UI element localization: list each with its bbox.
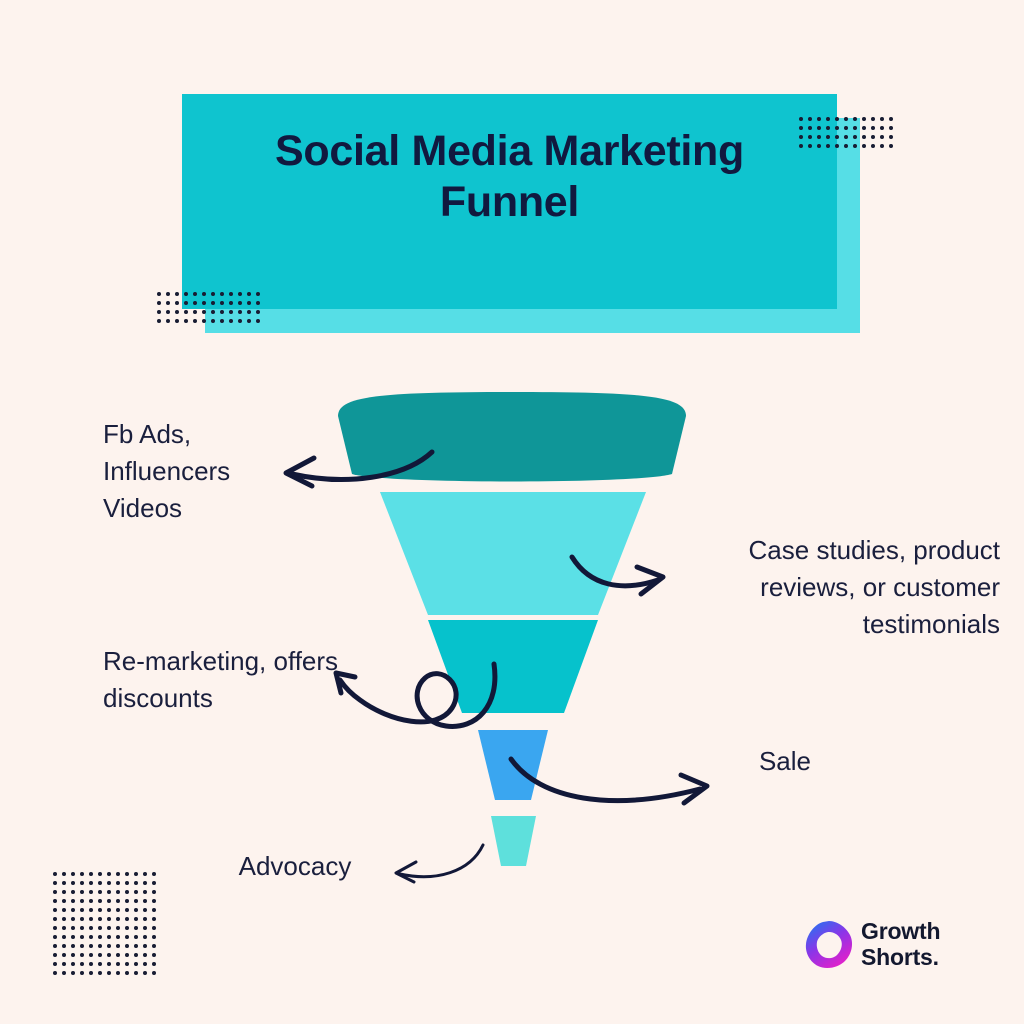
funnel-segment-5 — [491, 816, 536, 866]
dot-grid-mid-left — [157, 292, 265, 328]
funnel-label-sale: Sale — [700, 743, 870, 780]
growth-shorts-mark-icon — [803, 919, 855, 971]
brand-logo: Growth Shorts. — [803, 917, 963, 977]
funnel-segment-1 — [338, 392, 686, 482]
funnel-label-awareness: Fb Ads, Influencers Videos — [103, 416, 343, 527]
infographic-canvas: Social Media Marketing Funnel — [0, 0, 1024, 1024]
dot-grid-bottom-left — [53, 872, 161, 980]
brand-logo-text: Growth Shorts. — [861, 919, 940, 971]
dot-grid-top-right — [799, 117, 898, 153]
funnel-segment-4 — [478, 730, 548, 800]
page-title: Social Media Marketing Funnel — [182, 94, 837, 309]
funnel-label-consideration: Case studies, product reviews, or custom… — [640, 532, 1000, 643]
funnel-segment-3 — [428, 620, 598, 713]
funnel-label-advocacy: Advocacy — [185, 848, 405, 885]
funnel-label-intent: Re-marketing, offers discounts — [103, 643, 433, 717]
funnel-segment-2 — [380, 492, 646, 615]
